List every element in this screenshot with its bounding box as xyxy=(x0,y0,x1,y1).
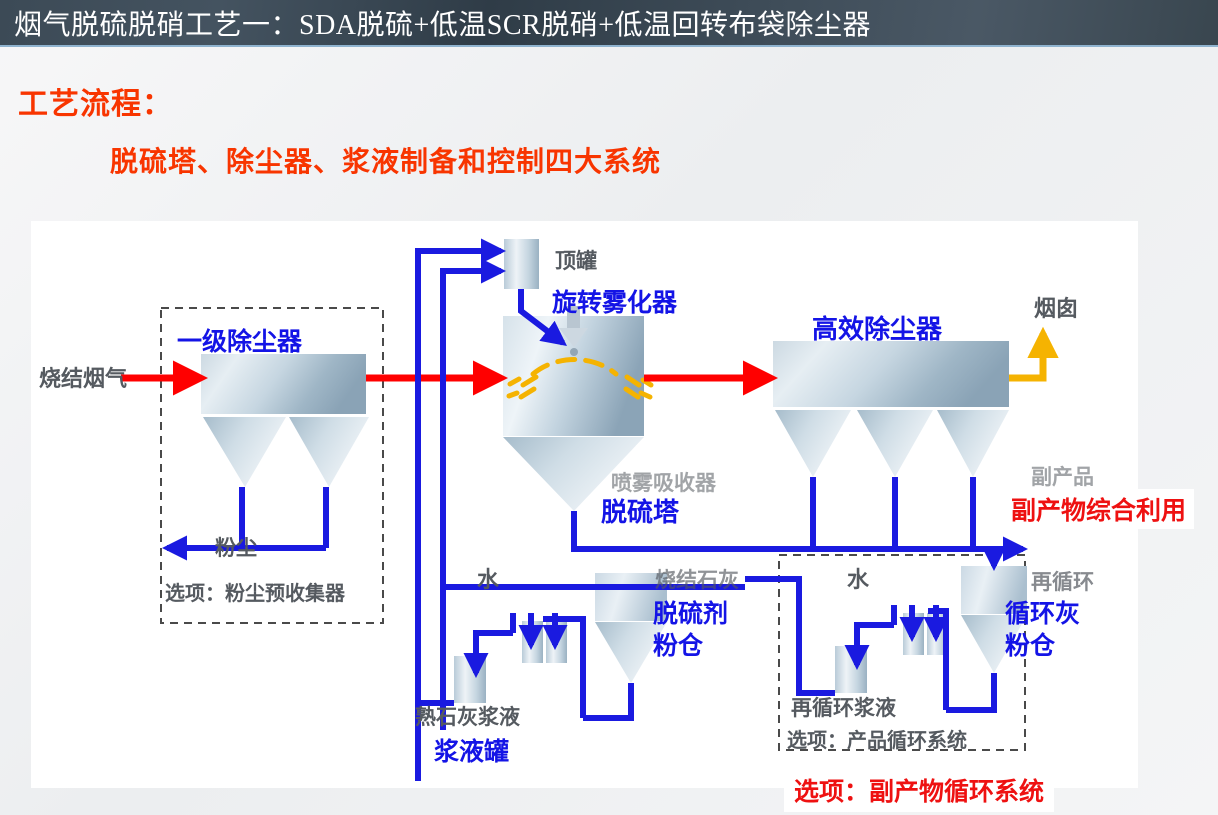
label-water-left: 水 xyxy=(477,562,499,594)
label-option-product-cycle: 选项：产品循环系统 xyxy=(787,724,967,753)
high-efficiency-collector-shape xyxy=(773,341,1009,477)
label-rotary-atomizer: 旋转雾化器 xyxy=(552,283,677,319)
label-byproduct-utilization: 副产物综合利用 xyxy=(1003,489,1194,529)
label-desulfurization-tower: 脱硫塔 xyxy=(601,492,679,529)
title-bar-text: 烟气脱硫脱硝工艺一：SDA脱硫+低温SCR脱硝+低温回转布袋除尘器 xyxy=(14,3,871,43)
label-dust: 粉尘 xyxy=(215,532,257,562)
title-bar: 烟气脱硫脱硝工艺一：SDA脱硫+低温SCR脱硝+低温回转布袋除尘器 xyxy=(0,0,1218,47)
label-water-right: 水 xyxy=(847,562,869,594)
clean-gas-to-chimney-path xyxy=(1009,333,1043,378)
label-recirculating-slurry: 再循环浆液 xyxy=(791,692,896,722)
label-primary-collector: 一级除尘器 xyxy=(177,322,302,358)
process-flow-diagram: 烧结烟气 一级除尘器 粉尘 选项：粉尘预收集器 顶罐 旋转雾化器 喷雾吸收器 脱… xyxy=(31,221,1138,788)
primary-dust-collector-shape xyxy=(201,354,369,487)
section-heading-primary: 工艺流程： xyxy=(18,79,173,123)
top-tank-shape xyxy=(504,239,539,289)
section-heading-secondary: 脱硫塔、除尘器、浆液制备和控制四大系统 xyxy=(110,140,661,180)
label-slaked-lime-slurry: 熟石灰浆液 xyxy=(415,701,520,731)
label-byproduct: 副产品 xyxy=(1031,461,1094,491)
label-desulfurizer-silo-line2: 粉仓 xyxy=(653,626,703,662)
label-option-dust-precollector: 选项：粉尘预收集器 xyxy=(165,577,345,606)
label-desulfurizer-silo-line1: 脱硫剂 xyxy=(653,594,728,630)
label-circulating-ash-silo-line1: 循环灰 xyxy=(1005,594,1080,630)
label-top-tank: 顶罐 xyxy=(555,245,597,275)
label-chimney: 烟囱 xyxy=(1034,291,1078,323)
label-high-efficiency-collector: 高效除尘器 xyxy=(812,309,942,346)
label-inlet-gas: 烧结烟气 xyxy=(39,361,127,393)
label-slurry-tank: 浆液罐 xyxy=(434,732,509,768)
label-circulating-ash-silo-line2: 粉仓 xyxy=(1005,626,1055,662)
label-option-byproduct-cycle: 选项：副产物循环系统 xyxy=(784,768,1054,812)
label-sintered-lime: 烧结石灰 xyxy=(655,564,739,594)
label-recirculation: 再循环 xyxy=(1031,566,1094,596)
